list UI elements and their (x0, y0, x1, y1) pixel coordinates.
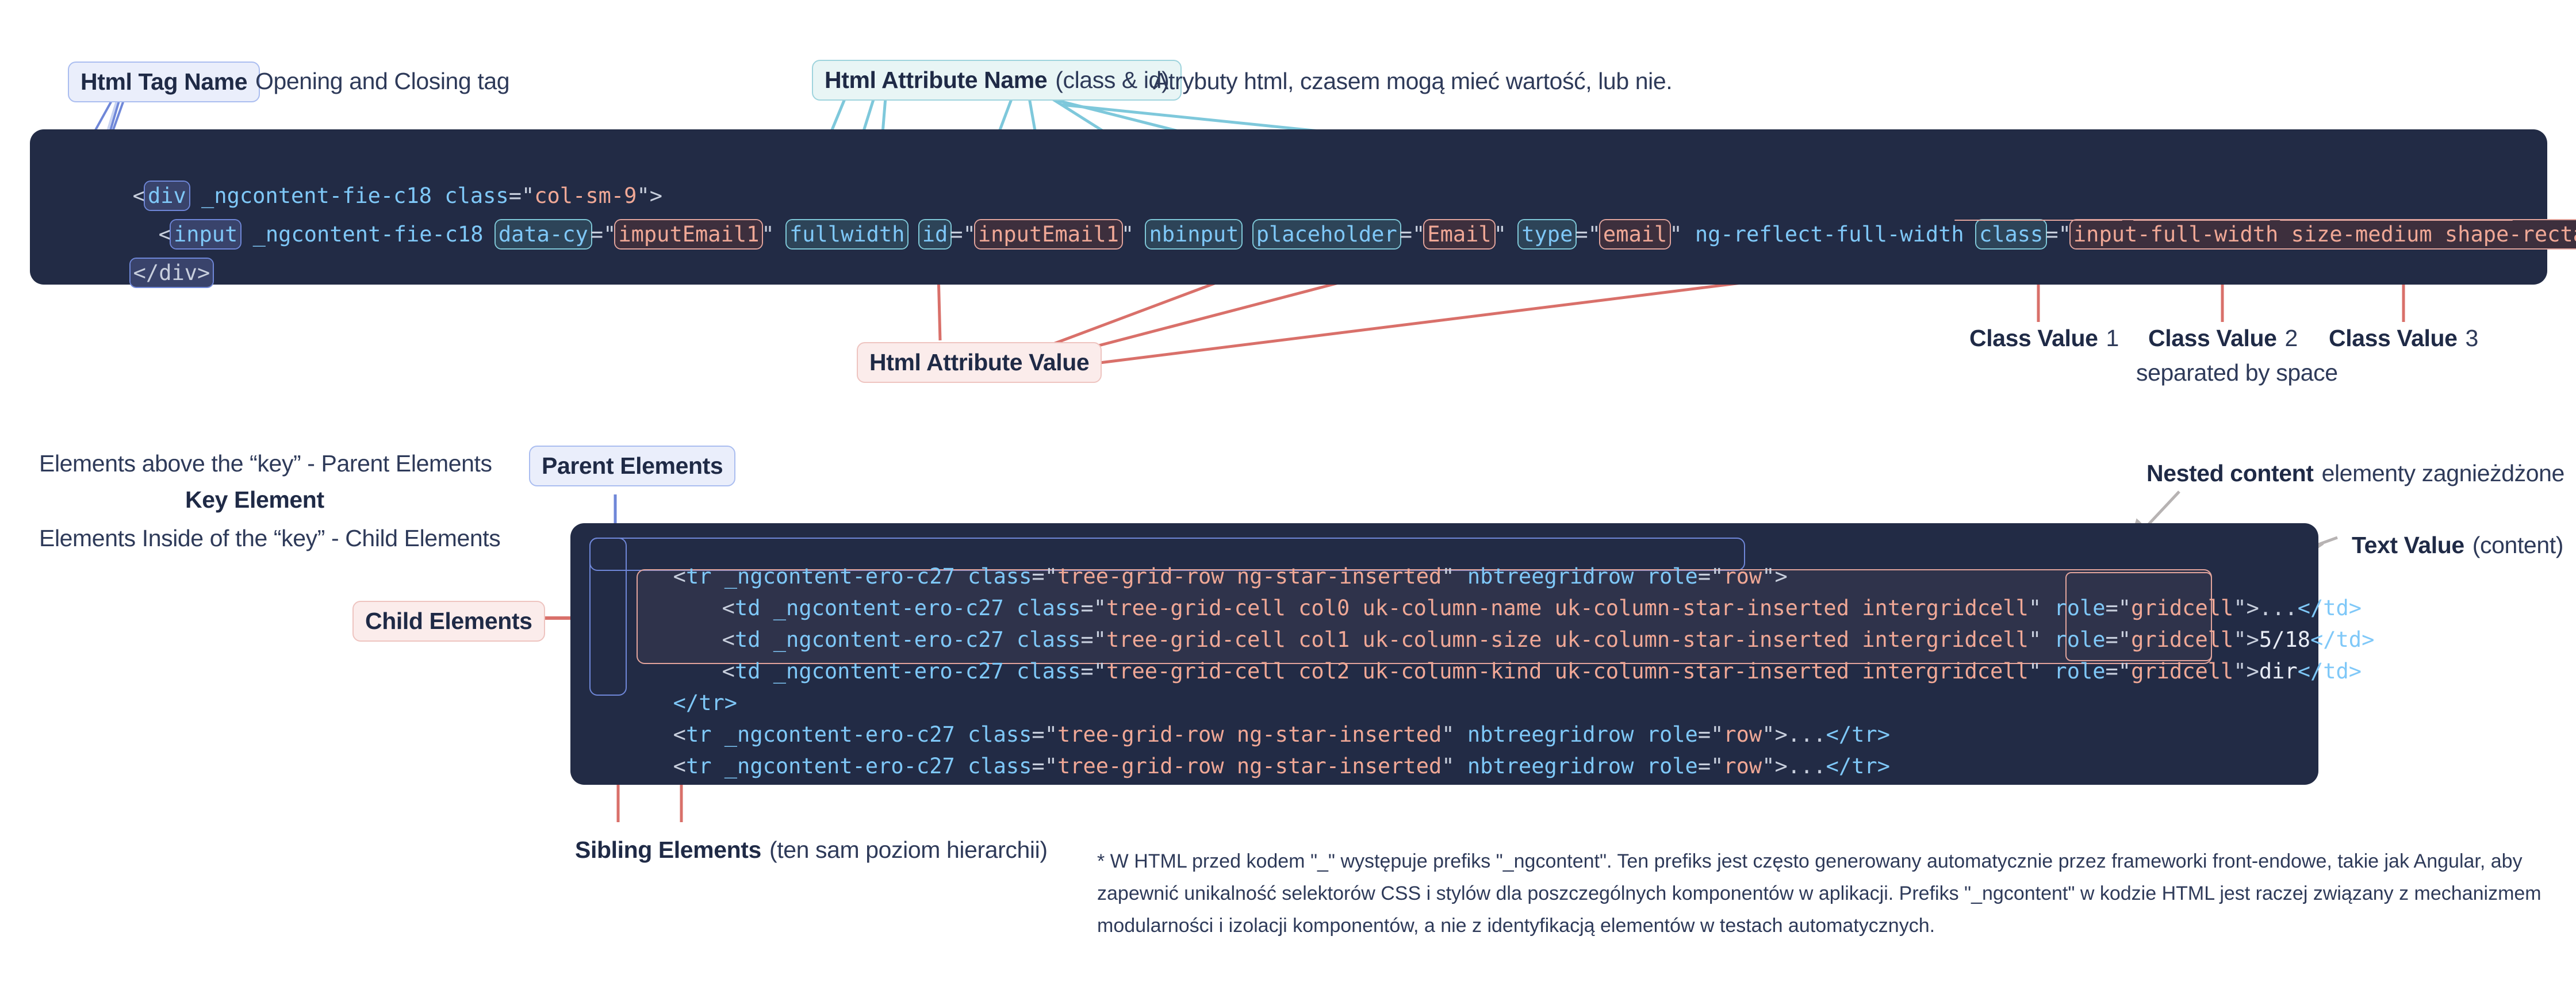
hl-attr-data-cy[interactable]: data-cy (496, 220, 591, 248)
chip-html-tag-name[interactable]: Html Tag Name (68, 62, 260, 102)
footnote-ngcontent: * W HTML przed kodem "_" występuje prefi… (1097, 845, 2576, 942)
chip-html-attribute-value-label: Html Attribute Value (869, 349, 1089, 376)
code-line-sibling-tr-2: <tr _ngcontent-ero-c27 class="tree-grid-… (596, 734, 1890, 798)
label-nested-content: Nested contentelementy zagnieżdżone (2146, 460, 2564, 487)
chip-html-tag-name-label: Html Tag Name (80, 68, 247, 95)
chip-html-attribute-name-label: Html Attribute Name (825, 67, 1047, 94)
hl-val-imputemail1[interactable]: imputEmail1 (615, 220, 762, 248)
chip-parent-elements-label: Parent Elements (542, 452, 723, 480)
chip-html-attribute-value[interactable]: Html Attribute Value (857, 342, 1102, 383)
code-panel-input: <div _ngcontent-fie-c18 class="col-sm-9"… (30, 129, 2547, 285)
label-sibling-elements: Sibling Elements(ten sam poziom hierarch… (575, 837, 1048, 864)
label-text-value: Text Value(content) (2352, 532, 2563, 559)
note-opening-closing-tag: Opening and Closing tag (255, 68, 509, 95)
hl-val-inputemail1[interactable]: inputEmail1 (975, 220, 1122, 248)
class-value-1-underline (1954, 220, 2122, 221)
code-line-td-2: <td _ngcontent-ero-c27 class="tree-grid-… (645, 639, 2362, 703)
chip-parent-elements[interactable]: Parent Elements (529, 446, 735, 486)
hl-attr-type[interactable]: type (1519, 220, 1575, 248)
chip-child-elements-label: Child Elements (365, 608, 532, 635)
label-class-value-3: Class Value3 (2329, 325, 2478, 352)
note-key-element: Key Element (185, 486, 324, 513)
label-separated-by-space: separated by space (2136, 359, 2338, 386)
note-parent-elements: Elements above the “key” - Parent Elemen… (39, 450, 492, 477)
hl-attr-nbinput[interactable]: nbinput (1146, 220, 1241, 248)
code-panel-treegrid: <tr _ngcontent-ero-c27 class="tree-grid-… (570, 523, 2318, 785)
code-line-input: <input _ngcontent-fie-c18 data-cy="imput… (82, 202, 2576, 266)
label-class-value-2: Class Value2 (2148, 325, 2298, 352)
hl-val-email-placeholder[interactable]: Email (1424, 220, 1494, 248)
class-value-3-underline (2280, 220, 2513, 221)
hl-attr-placeholder[interactable]: placeholder (1253, 220, 1400, 248)
label-class-value-1: Class Value1 (1969, 325, 2119, 352)
hl-attr-fullwidth[interactable]: fullwidth (787, 220, 907, 248)
hl-tag-div-close[interactable]: </div> (131, 259, 213, 287)
chip-html-attribute-name-sub: (class & id) (1055, 67, 1169, 94)
note-attributes-polish: Atrybuty html, czasem mogą mieć wartość,… (1153, 68, 1672, 95)
chip-html-attribute-name[interactable]: Html Attribute Name (class & id) (812, 60, 1182, 101)
hl-attr-class[interactable]: class (1976, 220, 2046, 248)
hl-val-class-list[interactable]: input-full-width size-medium shape-recta… (2071, 220, 2576, 248)
hl-val-email-type[interactable]: email (1600, 220, 1670, 248)
note-child-elements: Elements Inside of the “key” - Child Ele… (39, 525, 500, 552)
code-line-div-close: </div> (54, 241, 212, 305)
chip-child-elements[interactable]: Child Elements (352, 601, 545, 642)
diagram-canvas: Html Tag Name Opening and Closing tag Ht… (0, 0, 2576, 1005)
class-value-2-underline (2133, 220, 2270, 221)
hl-attr-id[interactable]: id (919, 220, 951, 248)
